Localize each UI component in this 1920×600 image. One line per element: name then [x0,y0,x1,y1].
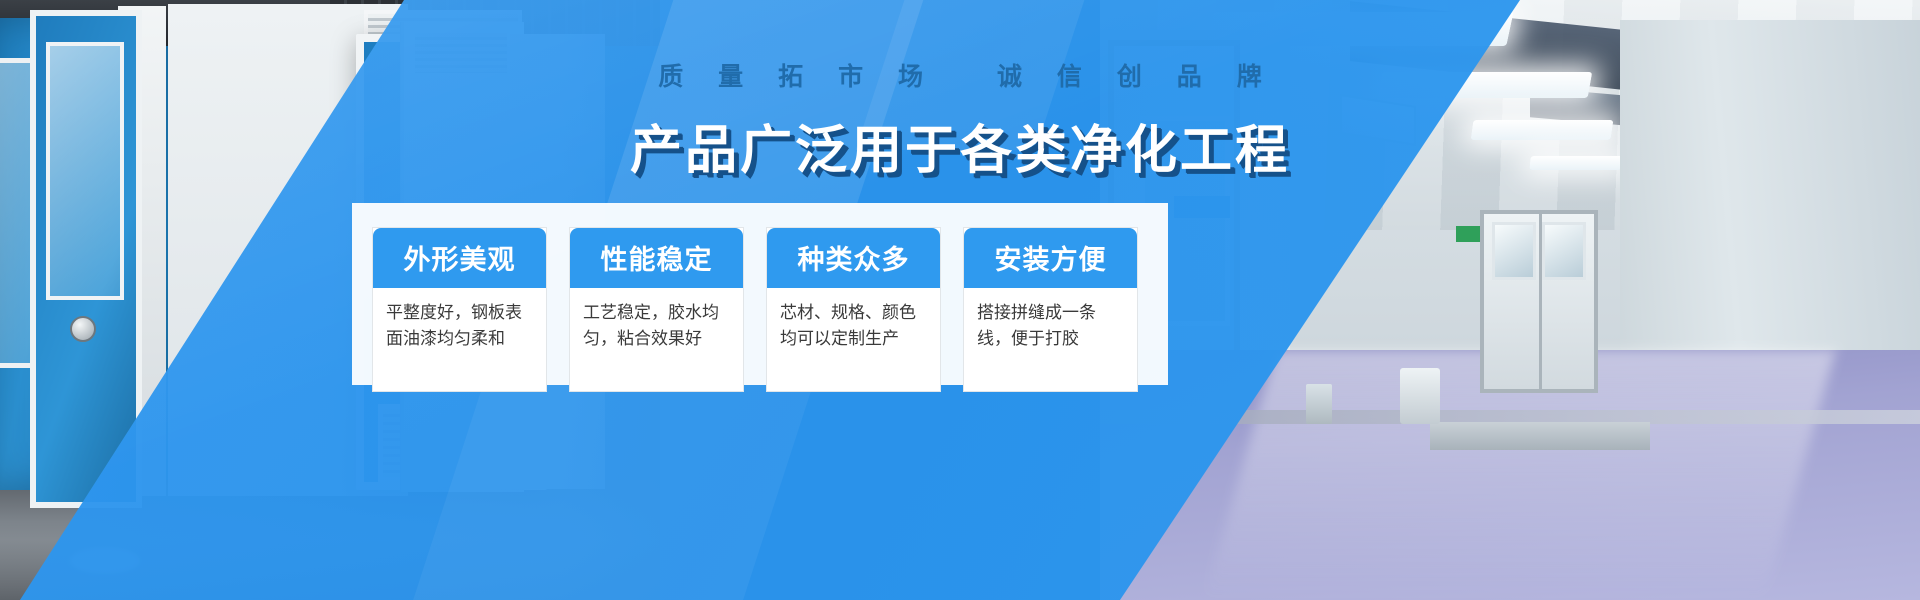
feature-card[interactable]: 种类众多 芯材、规格、颜色均可以定制生产 [766,227,941,392]
feature-card-body: 芯材、规格、颜色均可以定制生产 [767,288,940,391]
feature-card[interactable]: 性能稳定 工艺稳定，胶水均匀，粘合效果好 [569,227,744,392]
feature-card[interactable]: 安装方便 搭接拼缝成一条线，便于打胶 [963,227,1138,392]
feature-card-body: 搭接拼缝成一条线，便于打胶 [964,288,1137,391]
corridor-baseboard [1430,422,1650,450]
feature-card-body: 平整度好，钢板表面油漆均匀柔和 [373,288,546,391]
cabin-window [46,42,124,300]
feature-card-title: 外形美观 [373,228,546,288]
corridor-equipment [1400,368,1440,424]
promo-banner: 质 量 拓 市 场 诚 信 创 品 牌 产品广泛用于各类净化工程 外形美观 平整… [0,0,1920,600]
end-door-window-right [1542,222,1586,280]
feature-card[interactable]: 外形美观 平整度好，钢板表面油漆均匀柔和 [372,227,547,392]
feature-card-title: 安装方便 [964,228,1137,288]
ceiling-light-3 [1471,120,1614,140]
corridor-bin [1306,384,1332,424]
feature-card-panel: 外形美观 平整度好，钢板表面油漆均匀柔和 性能稳定 工艺稳定，胶水均匀，粘合效果… [352,203,1168,385]
feature-card-body: 工艺稳定，胶水均匀，粘合效果好 [570,288,743,391]
ceiling-light-4 [1529,156,1622,170]
end-door-window-left [1492,222,1536,280]
cabin-left-blue [30,10,142,508]
cabin-lock-icon [70,316,96,342]
feature-card-title: 种类众多 [767,228,940,288]
feature-card-title: 性能稳定 [570,228,743,288]
